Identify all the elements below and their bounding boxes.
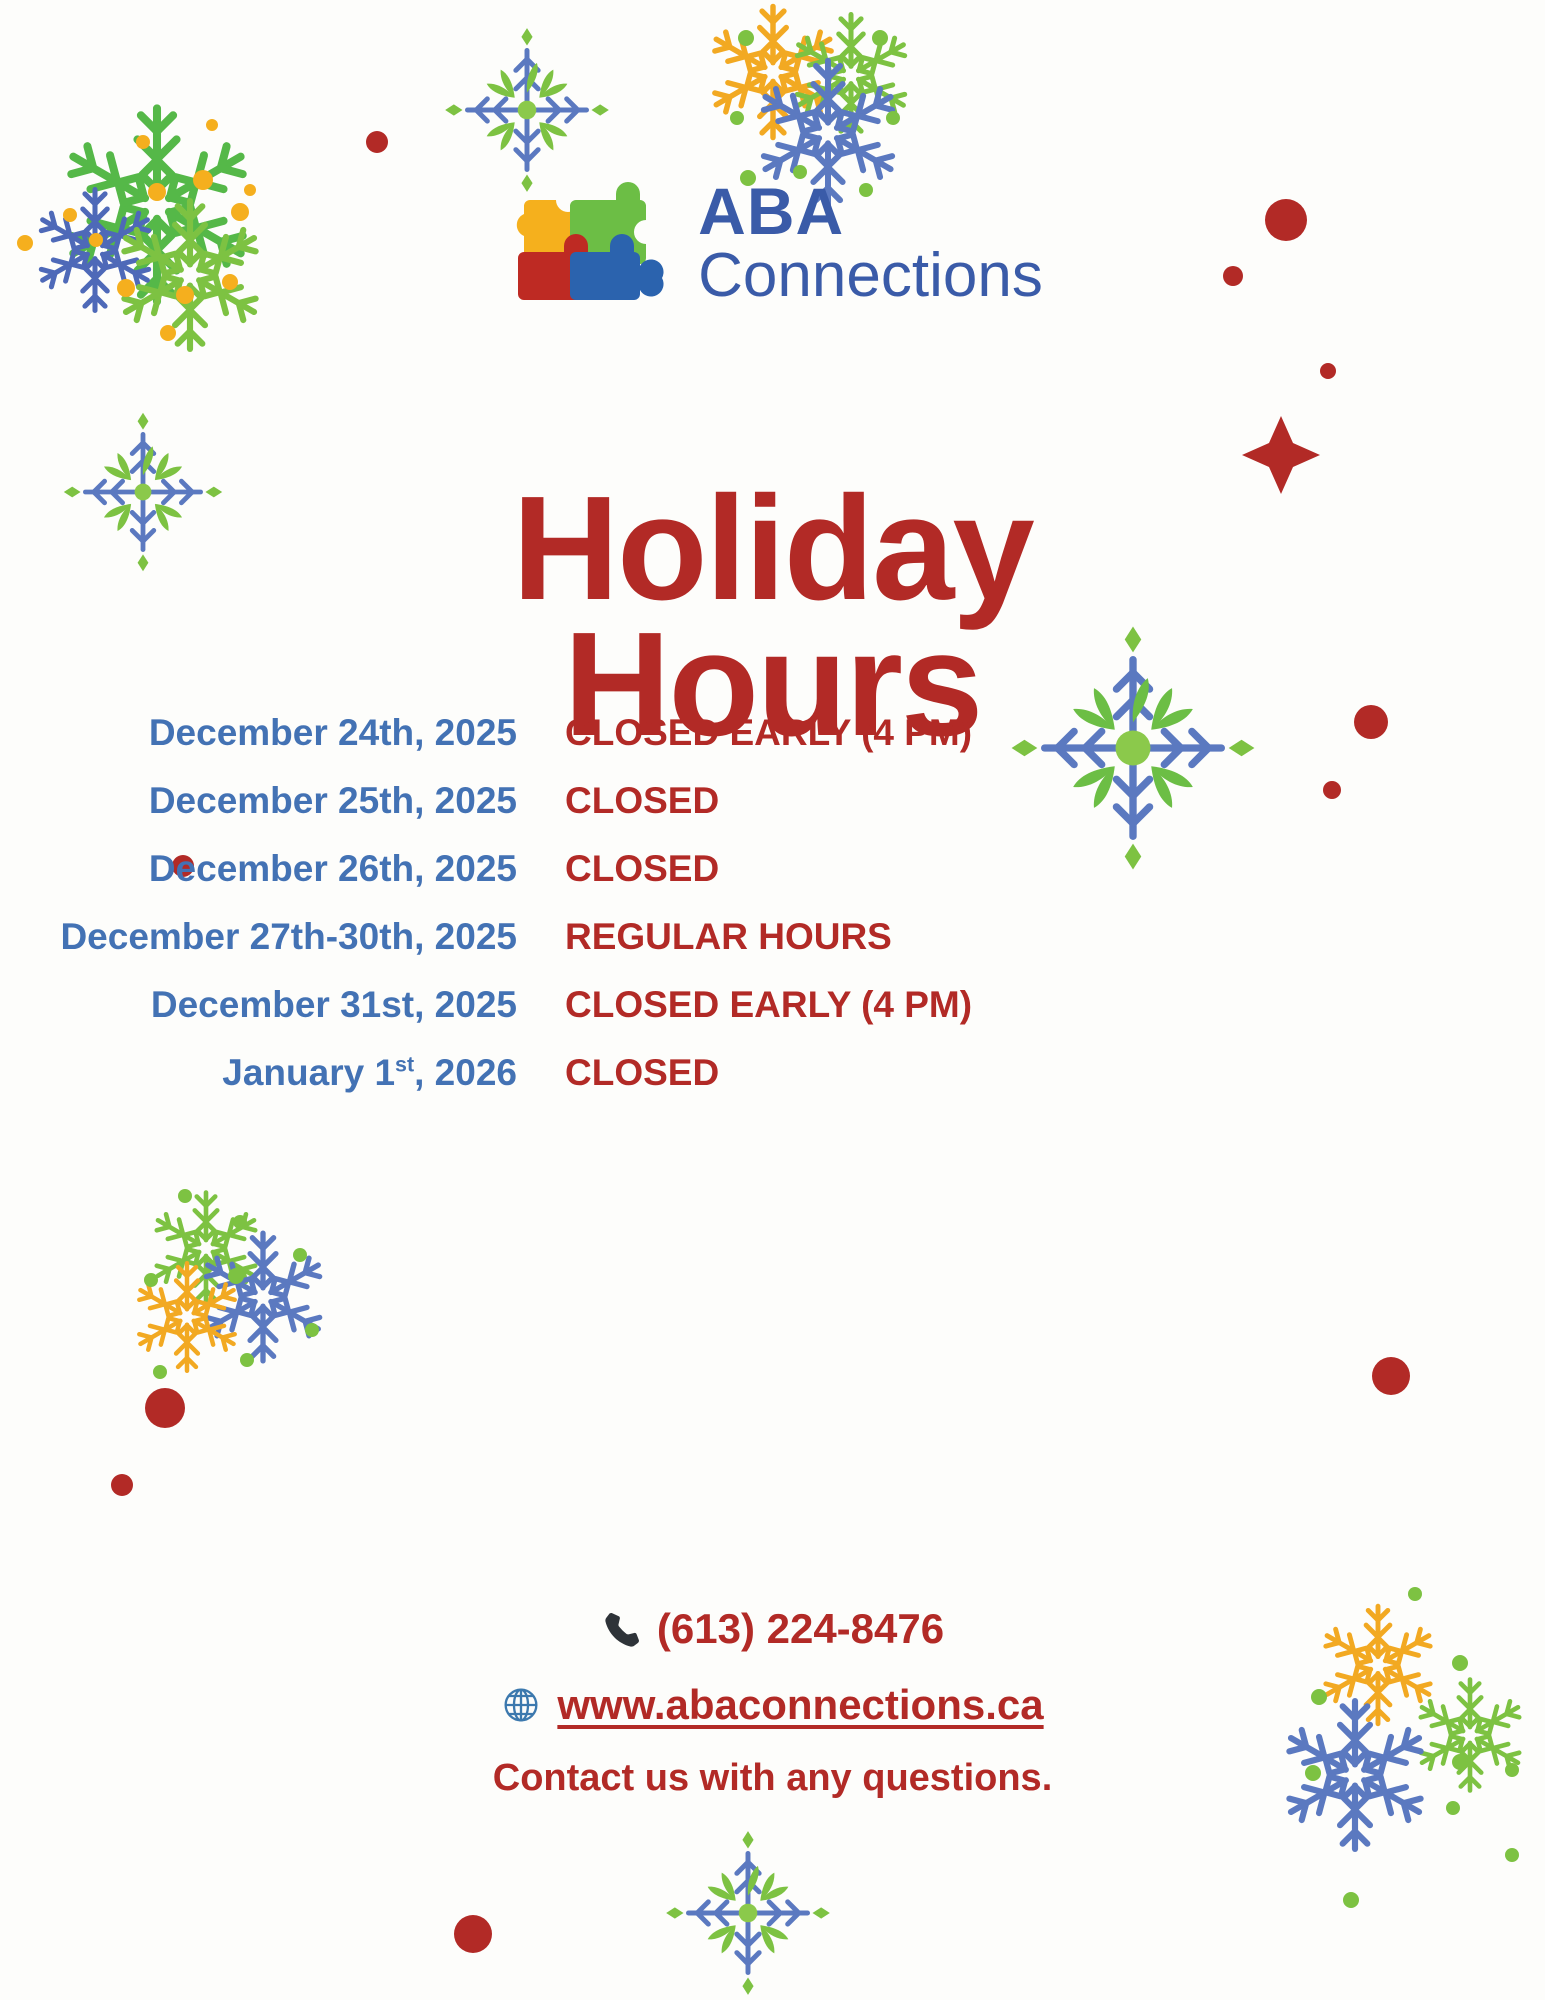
schedule-row: December 31st, 2025 CLOSED EARLY (4 PM) bbox=[0, 984, 1545, 1026]
schedule-date: December 25th, 2025 bbox=[0, 780, 565, 822]
schedule-row: December 24th, 2025 CLOSED EARLY (4 PM) bbox=[0, 712, 1545, 754]
brand-wordmark: ABA Connections bbox=[698, 179, 1043, 306]
poster-content: ABA Connections Holiday Hours December 2… bbox=[0, 0, 1545, 2000]
brand-name-line1: ABA bbox=[698, 179, 1043, 244]
schedule-date-year: , 2026 bbox=[414, 1052, 517, 1093]
globe-icon bbox=[501, 1685, 541, 1725]
schedule-date: January 1st, 2026 bbox=[0, 1052, 565, 1094]
schedule-status: CLOSED bbox=[565, 848, 719, 890]
schedule-date-main: January 1 bbox=[222, 1052, 395, 1093]
schedule-status: CLOSED EARLY (4 PM) bbox=[565, 712, 972, 754]
contact-block: (613) 224-8476 www.abaconnections.ca Con… bbox=[0, 1605, 1545, 1800]
schedule-status: CLOSED EARLY (4 PM) bbox=[565, 984, 972, 1026]
website-line: www.abaconnections.ca bbox=[0, 1681, 1545, 1729]
schedule-status: CLOSED bbox=[565, 780, 719, 822]
schedule-date-ordinal: st bbox=[395, 1053, 414, 1077]
contact-note: Contact us with any questions. bbox=[0, 1757, 1545, 1800]
schedule-date: December 31st, 2025 bbox=[0, 984, 565, 1026]
brand-name-line2: Connections bbox=[698, 246, 1043, 307]
phone-number[interactable]: (613) 224-8476 bbox=[657, 1605, 944, 1653]
schedule-status: REGULAR HOURS bbox=[565, 916, 892, 958]
holiday-hours-poster: ABA Connections Holiday Hours December 2… bbox=[0, 0, 1545, 2000]
holiday-schedule-list: December 24th, 2025 CLOSED EARLY (4 PM) … bbox=[0, 712, 1545, 1120]
phone-line: (613) 224-8476 bbox=[0, 1605, 1545, 1653]
phone-icon bbox=[601, 1609, 641, 1649]
website-link[interactable]: www.abaconnections.ca bbox=[557, 1681, 1043, 1729]
schedule-date: December 27th-30th, 2025 bbox=[0, 916, 565, 958]
schedule-row: December 25th, 2025 CLOSED bbox=[0, 780, 1545, 822]
schedule-row: January 1st, 2026 CLOSED bbox=[0, 1052, 1545, 1094]
schedule-row: December 27th-30th, 2025 REGULAR HOURS bbox=[0, 916, 1545, 958]
schedule-date: December 26th, 2025 bbox=[0, 848, 565, 890]
schedule-date: December 24th, 2025 bbox=[0, 712, 565, 754]
schedule-status: CLOSED bbox=[565, 1052, 719, 1094]
brand-logo: ABA Connections bbox=[0, 168, 1545, 318]
schedule-row: December 26th, 2025 CLOSED bbox=[0, 848, 1545, 890]
puzzle-pieces-logo-icon bbox=[502, 168, 670, 318]
